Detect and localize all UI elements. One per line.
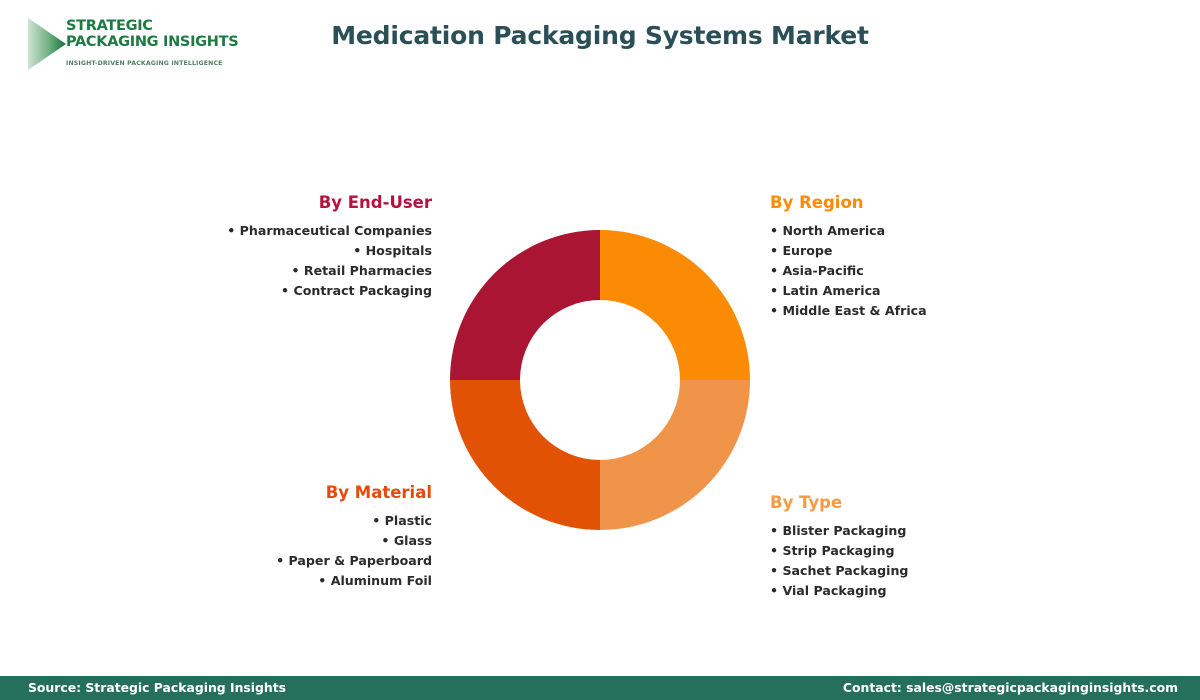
list-item: • Contract Packaging	[120, 281, 432, 301]
list-item-label: Asia-Pacific	[782, 263, 863, 278]
list-item-label: Strip Packaging	[782, 543, 894, 558]
segment-end-user-list: • Pharmaceutical Companies • Hospitals •…	[120, 221, 432, 301]
list-item-label: Retail Pharmacies	[304, 263, 432, 278]
footer-bar: Source: Strategic Packaging Insights Con…	[0, 676, 1200, 700]
segment-region: By Region • North America • Europe • Asi…	[770, 193, 1100, 321]
footer-contact-text: Contact: sales@strategicpackaginginsight…	[843, 680, 1178, 695]
list-item-label: Glass	[394, 533, 432, 548]
list-item-label: Hospitals	[366, 243, 432, 258]
list-item-label: Europe	[782, 243, 832, 258]
list-item-label: Paper & Paperboard	[289, 553, 432, 568]
segment-material-list: • Plastic • Glass • Paper & Paperboard •…	[120, 511, 432, 591]
segment-region-list: • North America • Europe • Asia-Pacific …	[770, 221, 1100, 321]
header: STRATEGIC PACKAGING INSIGHTS INSIGHT-DRI…	[0, 0, 1200, 90]
list-item-label: Middle East & Africa	[782, 303, 926, 318]
page-title: Medication Packaging Systems Market	[0, 21, 1200, 50]
list-item: • Europe	[770, 241, 1100, 261]
list-item: • Pharmaceutical Companies	[120, 221, 432, 241]
list-item: • Sachet Packaging	[770, 561, 1100, 581]
list-item: • Blister Packaging	[770, 521, 1100, 541]
segment-type: By Type • Blister Packaging • Strip Pack…	[770, 493, 1100, 601]
list-item-label: North America	[782, 223, 885, 238]
list-item: • North America	[770, 221, 1100, 241]
list-item: • Paper & Paperboard	[120, 551, 432, 571]
donut-slice-end-user	[450, 230, 600, 380]
list-item: • Middle East & Africa	[770, 301, 1100, 321]
list-item-label: Pharmaceutical Companies	[240, 223, 432, 238]
list-item: • Vial Packaging	[770, 581, 1100, 601]
segment-type-list: • Blister Packaging • Strip Packaging • …	[770, 521, 1100, 601]
footer-source-text: Source: Strategic Packaging Insights	[28, 680, 286, 695]
segment-end-user-title: By End-User	[120, 193, 432, 212]
segment-material: By Material • Plastic • Glass • Paper & …	[120, 483, 432, 591]
list-item: • Strip Packaging	[770, 541, 1100, 561]
donut-chart	[450, 230, 750, 530]
segment-type-title: By Type	[770, 493, 1100, 512]
logo-tagline: INSIGHT-DRIVEN PACKAGING INTELLIGENCE	[66, 60, 226, 67]
segment-region-title: By Region	[770, 193, 1100, 212]
donut-slice-type	[600, 380, 750, 530]
segment-end-user: By End-User • Pharmaceutical Companies •…	[120, 193, 432, 301]
donut-slice-region	[600, 230, 750, 380]
donut-slice-material	[450, 380, 600, 530]
list-item-label: Latin America	[782, 283, 880, 298]
list-item: • Aluminum Foil	[120, 571, 432, 591]
list-item: • Glass	[120, 531, 432, 551]
list-item: • Plastic	[120, 511, 432, 531]
list-item-label: Contract Packaging	[293, 283, 432, 298]
list-item-label: Sachet Packaging	[782, 563, 908, 578]
list-item: • Hospitals	[120, 241, 432, 261]
list-item-label: Aluminum Foil	[331, 573, 432, 588]
list-item: • Latin America	[770, 281, 1100, 301]
segment-material-title: By Material	[120, 483, 432, 502]
list-item-label: Vial Packaging	[782, 583, 886, 598]
list-item: • Retail Pharmacies	[120, 261, 432, 281]
list-item-label: Plastic	[385, 513, 432, 528]
list-item: • Asia-Pacific	[770, 261, 1100, 281]
list-item-label: Blister Packaging	[782, 523, 906, 538]
